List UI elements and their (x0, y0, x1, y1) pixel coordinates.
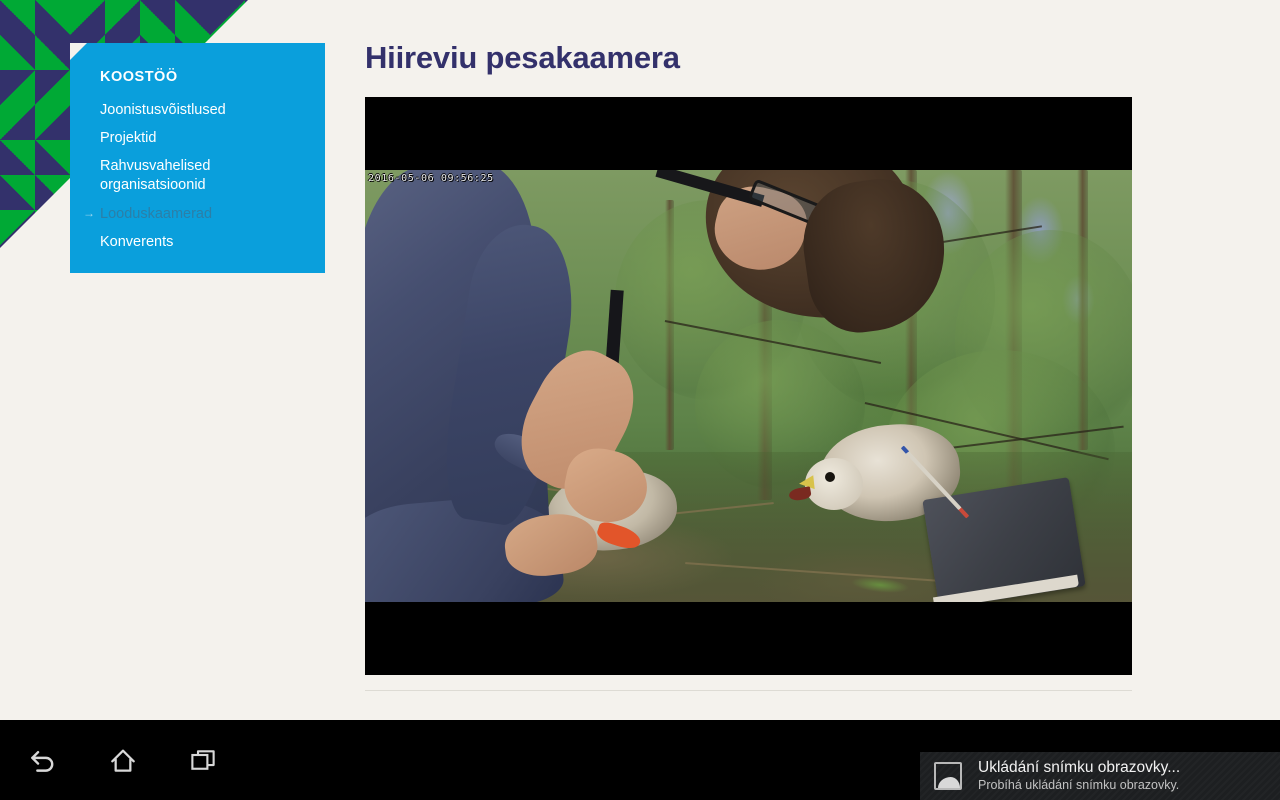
video-player[interactable]: 2016-05-06 09:56:25 (365, 97, 1132, 675)
pattern-triangle (35, 70, 70, 105)
sidebar-item-label: Projektid (100, 130, 156, 146)
recent-apps-icon (188, 745, 218, 775)
sidebar-item-label: Konverents (100, 234, 173, 250)
home-button[interactable] (83, 720, 163, 800)
sidebar-item-konverents[interactable]: Konverents (100, 233, 300, 252)
pattern-triangle (35, 210, 70, 245)
pattern-triangle (35, 0, 70, 35)
pattern-triangle (210, 0, 245, 35)
pattern-triangle (0, 210, 35, 245)
pattern-triangle (35, 35, 70, 70)
pattern-triangle (35, 105, 70, 140)
sidebar-item-rahvusvahelised-organisatsioonid[interactable]: Rahvusvahelised organisatsioonid (100, 157, 300, 195)
sidebar-item-projektid[interactable]: Projektid (100, 129, 300, 148)
recent-apps-button[interactable] (163, 720, 243, 800)
sidebar-heading: KOOSTÖÖ (100, 69, 325, 85)
sidebar-item-looduskaamerad[interactable]: →Looduskaamerad (100, 205, 300, 224)
pattern-triangle (0, 140, 35, 175)
pattern-triangle (35, 245, 70, 280)
pattern-triangle (0, 175, 35, 210)
sidebar-item-label: Joonistusvõistlused (100, 102, 226, 118)
buzzard-chick-eye (825, 472, 835, 482)
home-icon (107, 744, 139, 776)
video-timestamp-overlay: 2016-05-06 09:56:25 (368, 173, 494, 184)
corner-notch-decoration (70, 43, 87, 60)
pattern-triangle (175, 0, 210, 35)
video-frame: 2016-05-06 09:56:25 (365, 170, 1132, 602)
pattern-triangle (245, 0, 280, 35)
screenshot-notification[interactable]: Ukládání snímku obrazovky... Probíhá ukl… (920, 752, 1280, 800)
back-button[interactable] (3, 720, 83, 800)
active-arrow-icon: → (83, 206, 95, 222)
page-title: Hiireviu pesakaamera (365, 40, 680, 76)
sidebar-item-label: Looduskaamerad (100, 206, 212, 222)
page-root: KOOSTÖÖ JoonistusvõistlusedProjektidRahv… (0, 0, 1280, 800)
sidebar-item-joonistusv-istlused[interactable]: Joonistusvõistlused (100, 101, 300, 120)
notification-title: Ukládání snímku obrazovky... (978, 759, 1266, 777)
sidebar-menu: KOOSTÖÖ JoonistusvõistlusedProjektidRahv… (70, 43, 325, 273)
pattern-triangle (35, 140, 70, 175)
image-icon (934, 762, 962, 790)
content-divider (365, 690, 1132, 691)
pattern-triangle (0, 35, 35, 70)
sidebar-item-label: Rahvusvahelised organisatsioonid (100, 158, 210, 193)
notification-text: Ukládání snímku obrazovky... Probíhá ukl… (978, 759, 1266, 794)
pattern-triangle (105, 0, 140, 35)
pattern-triangle (0, 0, 35, 35)
notification-subtitle: Probíhá ukládání snímku obrazovky. (978, 778, 1266, 793)
back-arrow-icon (26, 743, 60, 777)
pattern-triangle (0, 245, 35, 280)
pattern-triangle (0, 70, 35, 105)
sidebar-item-list: JoonistusvõistlusedProjektidRahvusvaheli… (100, 101, 325, 252)
pattern-triangle (0, 105, 35, 140)
pattern-triangle (35, 175, 70, 210)
pattern-triangle (70, 0, 105, 35)
pattern-triangle (140, 0, 175, 35)
